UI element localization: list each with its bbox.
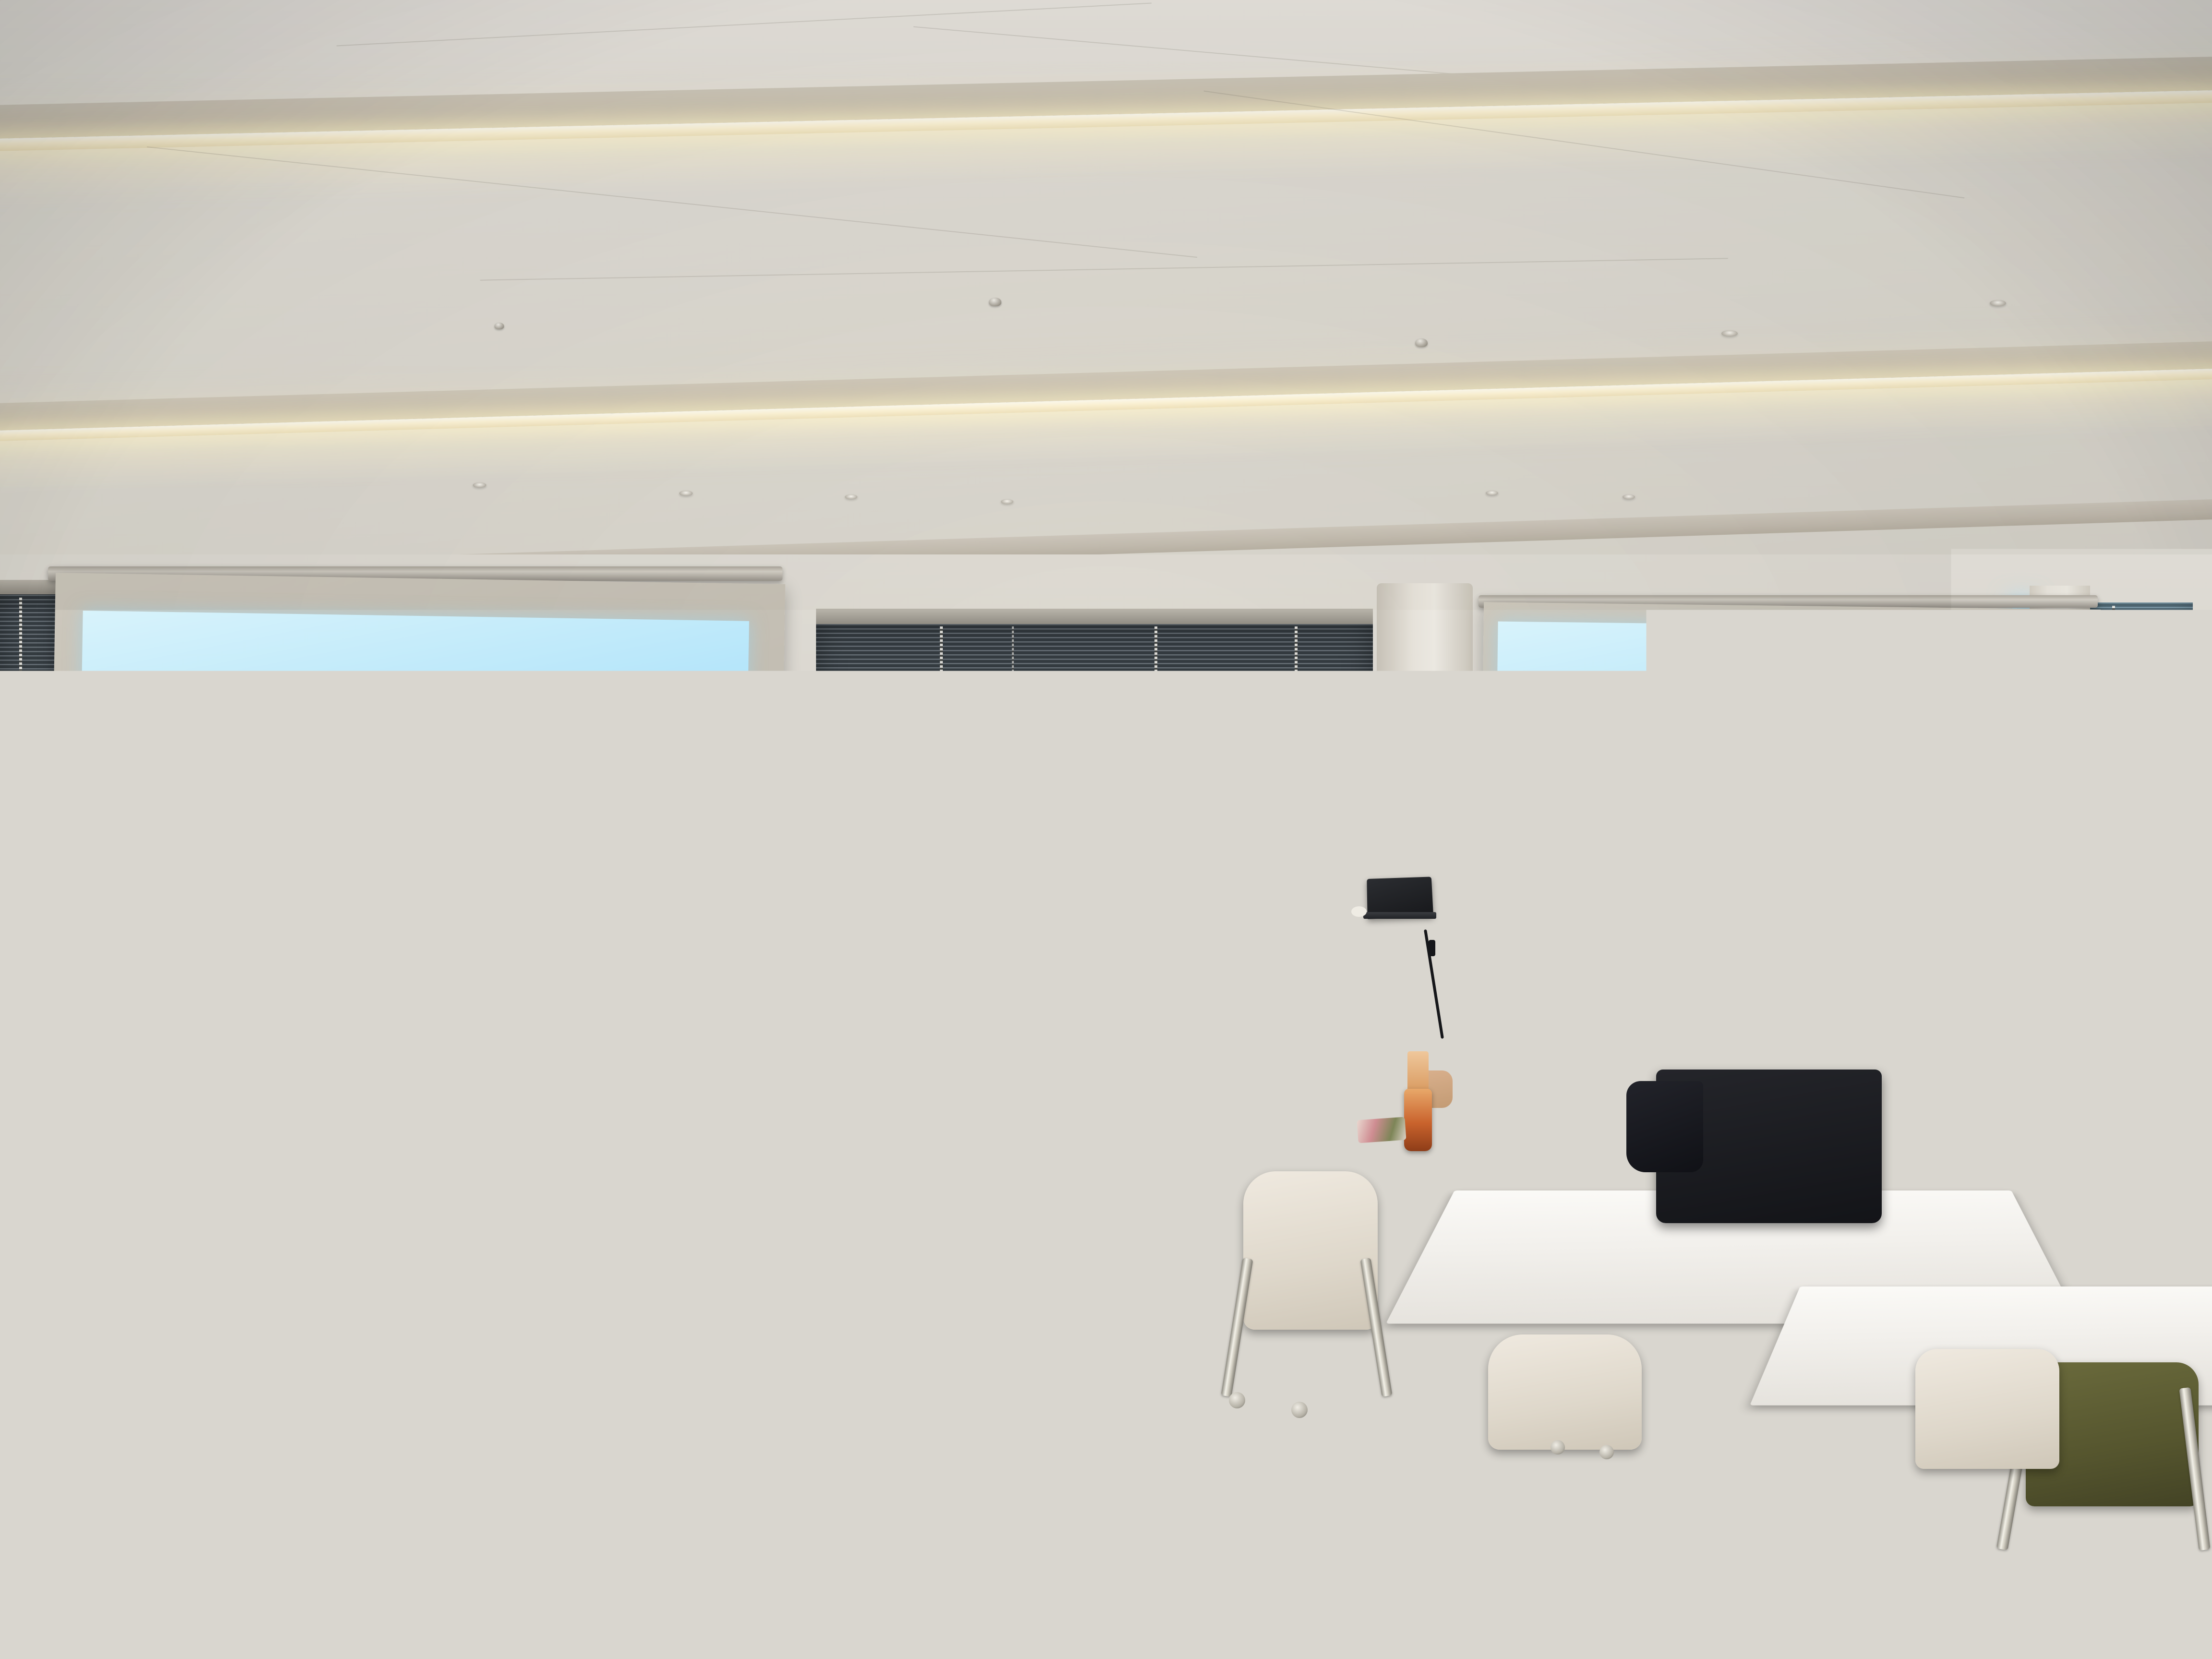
tote-bag-side[interactable] [1626,1081,1703,1172]
audience-4-hair [1974,910,2066,963]
table-leg [2151,1138,2159,1272]
laptop-base[interactable] [1363,912,1436,919]
presenter-4-hand [1256,935,1284,960]
av-stand-post [880,1007,887,1098]
table-caster [1229,1392,1245,1408]
chair-beige[interactable] [1887,1003,1963,1090]
snack-wrapper[interactable] [1357,1117,1406,1143]
ceiling [0,0,2212,571]
presenter-2-glasses [1057,836,1074,850]
presenter-1-collar [958,850,1012,860]
table-leg [1824,1488,1835,1659]
downlight-icon [845,494,857,499]
cable-connector [1429,940,1435,956]
chair-beige-front[interactable] [0,1555,173,1659]
presenter-2-glasses-bridge [1074,842,1080,844]
presenter-3-badge [1170,938,1202,978]
chair-beige-front[interactable] [816,1450,1018,1659]
slide-card-left: おかずプラン チームD [323,686,494,929]
ceiling-seam [480,258,1728,280]
presenter-4-badge [1309,932,1339,972]
table-caster [1291,1402,1308,1418]
window-mullion [0,1061,509,1063]
presenter-3-glasses [1176,842,1192,854]
downlight-icon [679,491,693,496]
projector-screen-left: おかずプラン チームD [48,573,785,1064]
presenter-4-mouth [1289,841,1302,847]
table-leg [974,1176,983,1296]
presenter-3-glasses [1155,842,1171,854]
conference-room-photo: おかずプラン チームD おかずプラン チームD [0,0,2212,1659]
window-mullion [902,1032,905,1109]
audience-2-shoe [1140,1406,1190,1466]
blind-pull-cord[interactable] [19,598,22,866]
downlight-icon [473,482,486,488]
slide-card-right: おかずプラン チームD [1724,703,1854,883]
chair-terracotta-front[interactable] [1320,1450,1527,1659]
sprinkler-head-icon [1415,338,1428,347]
sprinkler-head-icon [494,323,504,329]
chair-olive-front[interactable] [206,1531,456,1659]
blind-headrail-center [816,609,1373,625]
table-leg [902,1176,911,1301]
chair-beige[interactable] [1044,1267,1164,1411]
presenter-2-hair [1045,795,1108,829]
bottle-neck[interactable] [1407,1051,1429,1092]
presenter-1-hair [955,789,1015,819]
audience-3-hair [1524,902,1626,959]
downlight-icon [1486,491,1498,495]
window-blind-right[interactable] [2087,602,2193,1034]
presenter-2-glasses [1079,836,1096,850]
audience-1-shirt-pleat [591,1051,616,1195]
chair-terracotta-front[interactable] [1899,1603,2139,1659]
chair-beige[interactable] [1243,1171,1378,1330]
headphone-earcup[interactable] [864,1129,878,1153]
downlight-icon [1721,330,1738,337]
presenter-4-hair [1264,784,1330,823]
blind-pull-cord[interactable] [2112,606,2115,812]
table-caster [1551,1440,1565,1455]
chair-beige[interactable] [1915,1349,2059,1469]
downlight-icon [1001,499,1013,504]
headphone-earcup[interactable] [838,1129,853,1153]
downlight-icon [1990,300,2006,306]
sprinkler-head-icon [989,298,1001,306]
chair-terracotta[interactable] [132,1046,233,1118]
audience-2-hair [1061,913,1165,975]
presenter-3-hair [1144,801,1207,837]
chair-beige[interactable] [19,1099,77,1152]
table-caster [1599,1445,1614,1459]
cup-on-podium [1351,906,1367,917]
chair-beige[interactable] [1488,1334,1642,1450]
table-leg [250,1186,257,1282]
slide-left: おかずプラン チームD [77,611,749,1005]
beverage-bottle[interactable] [1404,1089,1432,1151]
chair-olive-front[interactable] [614,1440,845,1659]
downlight-icon [1623,494,1635,499]
